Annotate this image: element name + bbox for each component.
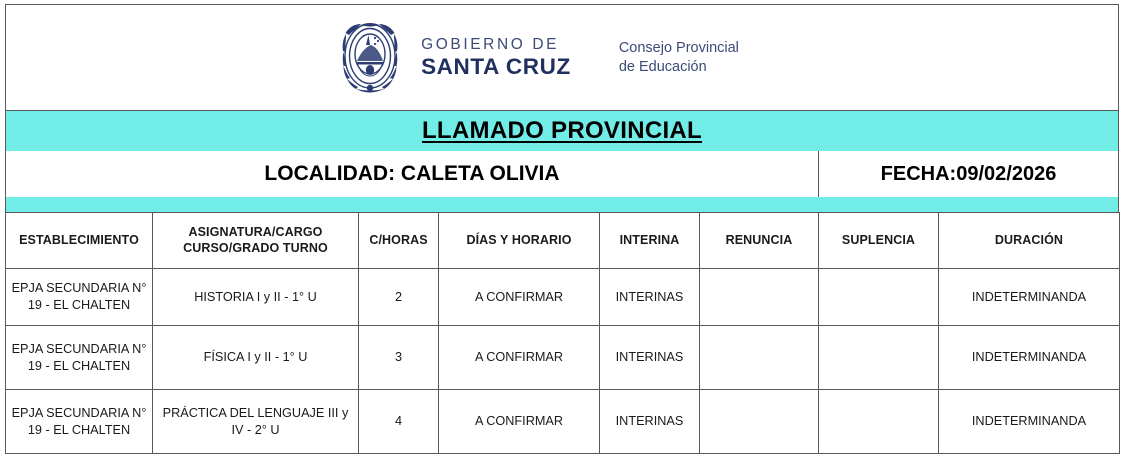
cell-establecimiento: EPJA SECUNDARIA N° 19 - EL CHALTEN [6,269,153,326]
llamado-provincial-document: GOBIERNO DE SANTA CRUZ Consejo Provincia… [0,0,1129,464]
localidad-value: LOCALIDAD: CALETA OLIVIA [6,151,819,197]
cell-asignatura: PRÁCTICA DEL LENGUAJE III y IV - 2° U [153,390,359,454]
gobierno-line-2: SANTA CRUZ [421,56,571,79]
cell-c-horas: 4 [359,390,439,454]
cell-interina: INTERINAS [600,269,700,326]
page-title: LLAMADO PROVINCIAL [422,117,702,145]
cell-establecimiento: EPJA SECUNDARIA N° 19 - EL CHALTEN [6,390,153,454]
column-header-suplencia: SUPLENCIA [819,213,939,269]
cell-duracion: INDETERMINANDA [939,326,1120,390]
cell-suplencia [819,269,939,326]
cell-establecimiento: EPJA SECUNDARIA N° 19 - EL CHALTEN [6,326,153,390]
column-header-renuncia: RENUNCIA [700,213,819,269]
cell-suplencia [819,326,939,390]
localidad-fecha-row: LOCALIDAD: CALETA OLIVIA FECHA:09/02/202… [5,151,1119,198]
cell-asignatura: FÍSICA I y II - 1° U [153,326,359,390]
cell-renuncia [700,390,819,454]
santa-cruz-coat-of-arms-icon [341,21,399,95]
cell-c-horas: 3 [359,326,439,390]
cell-interina: INTERINAS [600,326,700,390]
table-header-row: ESTABLECIMIENTO ASIGNATURA/CARGO CURSO/G… [6,213,1120,269]
gobierno-line-1: GOBIERNO DE [421,37,571,53]
cell-dias-horario: A CONFIRMAR [439,326,600,390]
fecha-value: FECHA:09/02/2026 [819,151,1118,197]
cell-interina: INTERINAS [600,390,700,454]
organismo-label: Consejo Provincial de Educación [619,39,739,76]
column-header-interina: INTERINA [600,213,700,269]
table-body: EPJA SECUNDARIA N° 19 - EL CHALTEN HISTO… [6,269,1120,454]
masthead: GOBIERNO DE SANTA CRUZ Consejo Provincia… [5,4,1119,110]
brand-lockup: GOBIERNO DE SANTA CRUZ Consejo Provincia… [341,21,739,95]
column-header-asignatura: ASIGNATURA/CARGO CURSO/GRADO TURNO [153,213,359,269]
cell-c-horas: 2 [359,269,439,326]
table-row: EPJA SECUNDARIA N° 19 - EL CHALTEN FÍSIC… [6,326,1120,390]
section-separator-band [5,197,1119,213]
cell-dias-horario: A CONFIRMAR [439,390,600,454]
table-row: EPJA SECUNDARIA N° 19 - EL CHALTEN PRÁCT… [6,390,1120,454]
cell-dias-horario: A CONFIRMAR [439,269,600,326]
llamado-banner: LLAMADO PROVINCIAL [5,110,1119,152]
table-row: EPJA SECUNDARIA N° 19 - EL CHALTEN HISTO… [6,269,1120,326]
cell-duracion: INDETERMINANDA [939,269,1120,326]
column-header-duracion: DURACIÓN [939,213,1120,269]
vacancies-table: ESTABLECIMIENTO ASIGNATURA/CARGO CURSO/G… [5,212,1120,454]
table-header: ESTABLECIMIENTO ASIGNATURA/CARGO CURSO/G… [6,213,1120,269]
cell-suplencia [819,390,939,454]
gobierno-wordmark: GOBIERNO DE SANTA CRUZ [421,37,571,78]
cell-asignatura: HISTORIA I y II - 1° U [153,269,359,326]
column-header-establecimiento: ESTABLECIMIENTO [6,213,153,269]
column-header-c-horas: C/HORAS [359,213,439,269]
cell-duracion: INDETERMINANDA [939,390,1120,454]
cell-renuncia [700,326,819,390]
cell-renuncia [700,269,819,326]
column-header-dias-horario: DÍAS Y HORARIO [439,213,600,269]
